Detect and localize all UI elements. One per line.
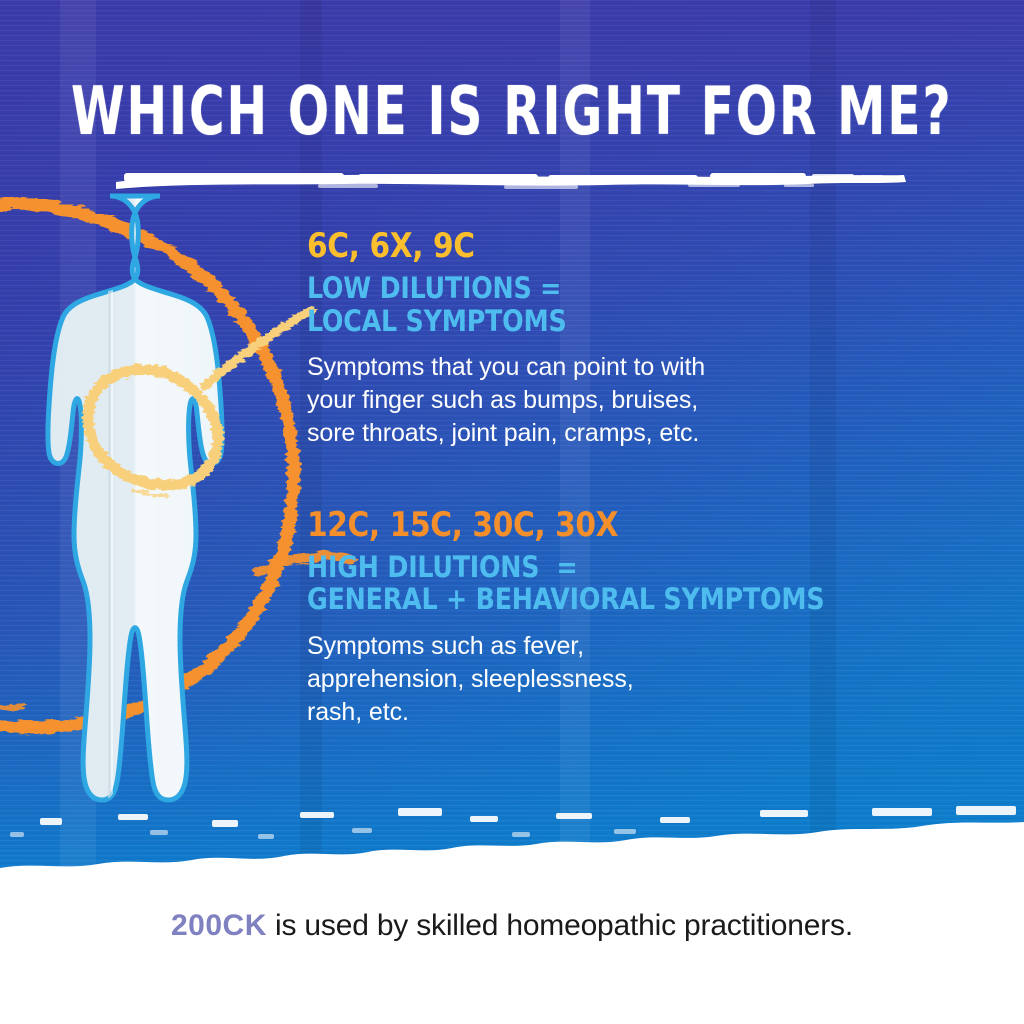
footer-potency-highlight: 200CK xyxy=(171,909,267,942)
title-underline-brushstroke xyxy=(112,164,912,198)
human-silhouette xyxy=(48,190,222,880)
page-title: WHICH ONE IS RIGHT FOR ME? xyxy=(71,78,953,145)
content-column: 6C, 6X, 9C LOW DILUTIONS = LOCAL SYMPTOM… xyxy=(307,228,967,729)
low-dilution-description: Symptoms that you can point to with your… xyxy=(307,351,967,451)
title-wrap: WHICH ONE IS RIGHT FOR ME? xyxy=(0,78,1024,133)
footer-note-text: is used by skilled homeopathic practitio… xyxy=(267,909,853,942)
low-dilution-potencies: 6C, 6X, 9C xyxy=(307,228,947,264)
torn-bottom-edge xyxy=(0,802,1024,880)
dilution-block-high: 12C, 15C, 30C, 30X HIGH DILUTIONS = GENE… xyxy=(307,507,967,730)
high-dilution-description: Symptoms such as fever, apprehension, sl… xyxy=(307,630,967,730)
footer-note: 200CK is used by skilled homeopathic pra… xyxy=(0,908,1024,944)
low-dilution-subhead: LOW DILUTIONS = LOCAL SYMPTOMS xyxy=(307,272,947,337)
figure-group xyxy=(0,190,325,880)
infographic-canvas: WHICH ONE IS RIGHT FOR ME? 6C, 6X, 9C LO… xyxy=(0,0,1024,1024)
high-dilution-subhead: HIGH DILUTIONS = GENERAL + BEHAVIORAL SY… xyxy=(307,551,947,616)
high-dilution-potencies: 12C, 15C, 30C, 30X xyxy=(307,507,947,543)
dilution-block-low: 6C, 6X, 9C LOW DILUTIONS = LOCAL SYMPTOM… xyxy=(307,228,967,451)
